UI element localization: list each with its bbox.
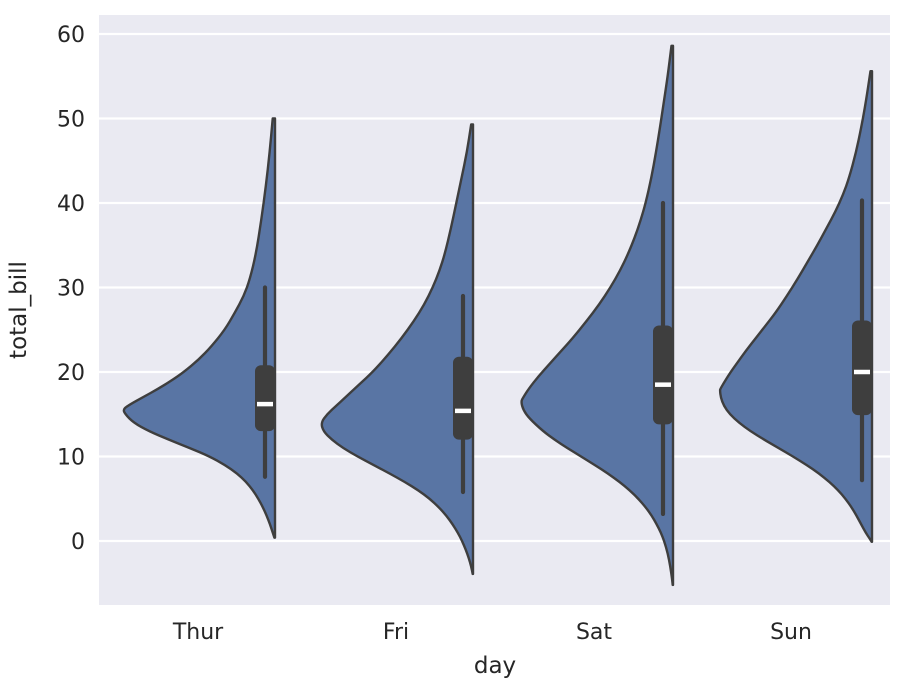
x-tick-label-thur: Thur [172, 620, 224, 645]
x-tick-label-fri: Fri [383, 620, 409, 645]
y-tick-label: 20 [57, 361, 85, 386]
iqr-box-sat [653, 326, 673, 425]
y-tick-label: 60 [57, 23, 85, 48]
x-tick-label-sat: Sat [576, 620, 612, 645]
violin-plot-figure: 0102030405060 ThurFriSatSun total_bill d… [0, 0, 906, 700]
y-tick-label: 50 [57, 108, 85, 133]
y-tick-label: 10 [57, 446, 85, 471]
x-tick-label-sun: Sun [770, 620, 812, 645]
chart-svg: 0102030405060 ThurFriSatSun total_bill d… [0, 0, 906, 700]
x-axis-label: day [474, 653, 516, 679]
y-axis-label: total_bill [6, 261, 32, 359]
y-tick-label: 0 [71, 530, 85, 555]
iqr-box-thur [255, 365, 275, 431]
iqr-box-sun [852, 320, 872, 415]
x-tick-labels: ThurFriSatSun [172, 620, 812, 645]
plot-area-background [99, 15, 890, 605]
iqr-box-fri [453, 357, 473, 440]
y-tick-labels: 0102030405060 [57, 23, 85, 555]
y-tick-label: 40 [57, 192, 85, 217]
y-tick-label: 30 [57, 277, 85, 302]
